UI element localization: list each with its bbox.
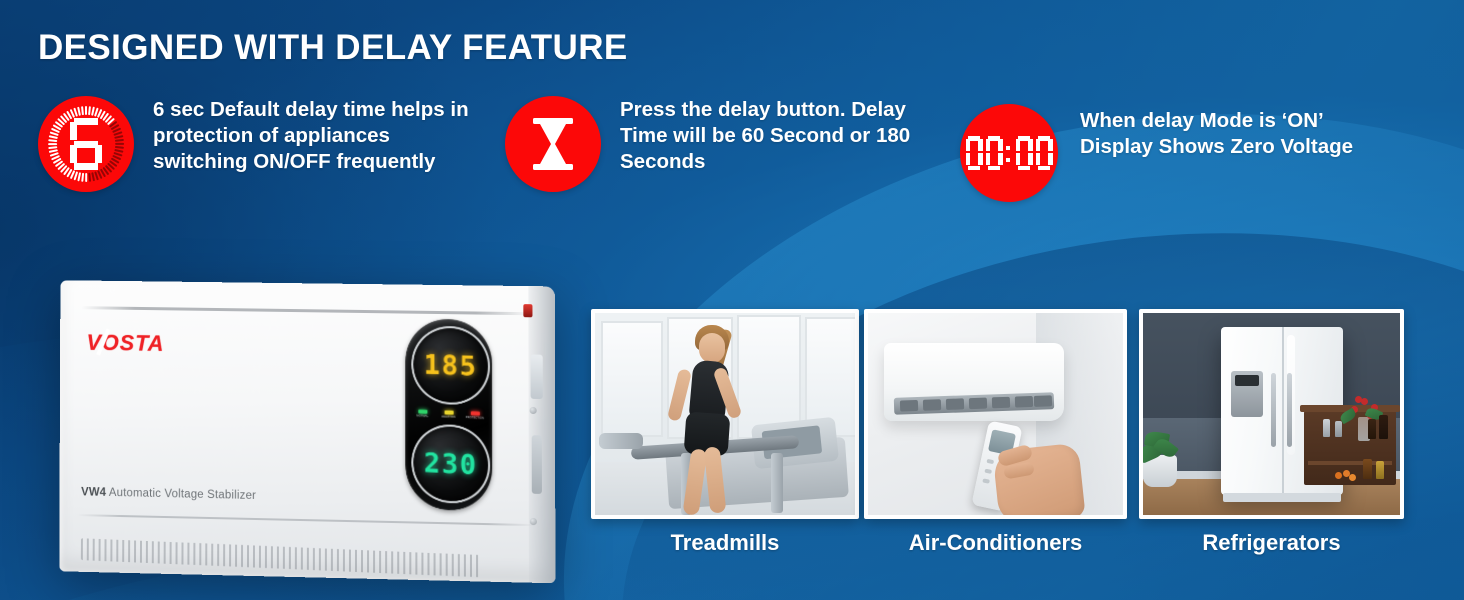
tick-mark [115, 139, 124, 142]
stopwatch-six-icon [38, 96, 134, 192]
seven-segment-clock [964, 136, 1054, 170]
side-by-side-refrigerator-photo [1139, 309, 1404, 519]
voltage-stabilizer-product-image: VOSTA VW4 Automatic Voltage Stabilizer 1… [57, 283, 553, 577]
segment-c [1048, 153, 1053, 165]
normal-led-label: NORMAL [417, 414, 429, 417]
segment-e [986, 153, 991, 165]
segment-a [74, 118, 98, 125]
device-model-label: VW4 Automatic Voltage Stabilizer [81, 486, 256, 502]
device-body: VOSTA VW4 Automatic Voltage Stabilizer 1… [59, 280, 555, 583]
segment-f [1016, 139, 1021, 151]
device-side-tab [531, 355, 543, 400]
segment-d [1018, 166, 1030, 171]
treadmill-gym-photo [591, 309, 859, 519]
normal-led-icon [418, 409, 427, 413]
tick-mark [85, 173, 87, 182]
tick-mark [81, 173, 84, 182]
appliance-card-treadmills: Treadmills [591, 309, 859, 556]
input-voltage-dial: 185 [411, 325, 490, 406]
device-screw [530, 518, 537, 525]
gym-scene [595, 313, 855, 515]
segment-b [1028, 139, 1033, 151]
segment-f [966, 139, 971, 151]
delaying-led-icon [444, 410, 453, 414]
seven-segment-digit [966, 136, 983, 170]
segment-e [1036, 153, 1041, 165]
segment-f [986, 139, 991, 151]
segment-g [74, 141, 98, 148]
feature-text: 6 sec Default delay time helps in protec… [153, 97, 478, 176]
device-bottom-seam [77, 514, 535, 526]
status-led-row: NORMAL DELAYING PROTECTION [409, 409, 488, 426]
segment-c [978, 153, 983, 165]
kitchen-scene [1143, 313, 1400, 515]
protection-led-icon [470, 411, 479, 415]
status-led-delaying: DELAYING [436, 410, 460, 419]
segment-b [998, 139, 1003, 151]
device-display-panel: 185 NORMAL DELAYING PROTECTION [405, 318, 492, 512]
feature-item-zero-voltage: When delay Mode is ‘ON’ Display Shows Ze… [960, 104, 1390, 202]
feature-text: When delay Mode is ‘ON’ Display Shows Ze… [1080, 108, 1390, 160]
device-vents [81, 538, 480, 577]
appliance-label: Treadmills [591, 530, 859, 556]
ac-room-scene [868, 313, 1123, 515]
model-text: Automatic Voltage Stabilizer [109, 487, 256, 502]
segment-c [998, 153, 1003, 165]
appliance-label: Refrigerators [1139, 530, 1404, 556]
input-voltage-value: 185 [424, 349, 478, 382]
feature-text: Press the delay button. Delay Time will … [620, 97, 935, 176]
split-ac-unit [884, 343, 1064, 421]
segment-e [1016, 153, 1021, 165]
model-prefix: VW4 [81, 486, 106, 498]
status-led-protection: PROTECTION [463, 411, 487, 420]
tick-mark [85, 106, 87, 115]
water-dispenser [1231, 371, 1263, 417]
segment-d [988, 166, 1000, 171]
device-screw [530, 407, 537, 414]
digital-clock-zero-icon [960, 104, 1058, 202]
split-ac-remote-photo [864, 309, 1127, 519]
seven-segment-digit [1016, 136, 1033, 170]
segment-b [978, 139, 983, 151]
feature-item-delay-default: 6 sec Default delay time helps in protec… [38, 96, 478, 192]
appliance-card-refrigerators: Refrigerators [1139, 309, 1404, 556]
segment-d [74, 163, 98, 170]
feature-item-delay-button: Press the delay button. Delay Time will … [505, 96, 935, 192]
page-title: DESIGNED WITH DELAY FEATURE [38, 28, 628, 68]
device-top-seam [82, 306, 531, 315]
segment-d [1038, 166, 1050, 171]
power-indicator-knob [523, 304, 532, 317]
segment-e [966, 153, 971, 165]
seven-segment-digit [986, 136, 1003, 170]
appliance-label: Air-Conditioners [864, 530, 1127, 556]
brand-logo: VOSTA [87, 330, 165, 357]
appliance-card-air-conditioners: Air-Conditioners [864, 309, 1127, 556]
segment-f [70, 122, 77, 140]
tick-mark [115, 143, 124, 145]
hourglass-icon [505, 96, 601, 192]
protection-led-label: PROTECTION [466, 416, 484, 420]
promo-banner: DESIGNED WITH DELAY FEATURE 6 sec Defaul… [0, 0, 1464, 600]
hourglass-glyph [533, 118, 573, 170]
hourglass-body-icon [538, 124, 568, 164]
segment-c [1028, 153, 1033, 165]
device-side-slot [532, 435, 542, 494]
delaying-led-label: DELAYING [442, 415, 456, 419]
output-voltage-value: 230 [424, 447, 478, 480]
status-led-normal: NORMAL [410, 409, 434, 418]
tick-mark [48, 143, 57, 145]
tick-mark [81, 106, 84, 115]
segment-d [968, 166, 980, 171]
segment-b [1048, 139, 1053, 151]
colon-separator [1005, 136, 1013, 170]
segment-f [1036, 139, 1041, 151]
output-voltage-dial: 230 [411, 423, 490, 505]
seven-segment-digit [1036, 136, 1053, 170]
tick-mark [48, 139, 57, 142]
seven-segment-six [70, 118, 102, 170]
